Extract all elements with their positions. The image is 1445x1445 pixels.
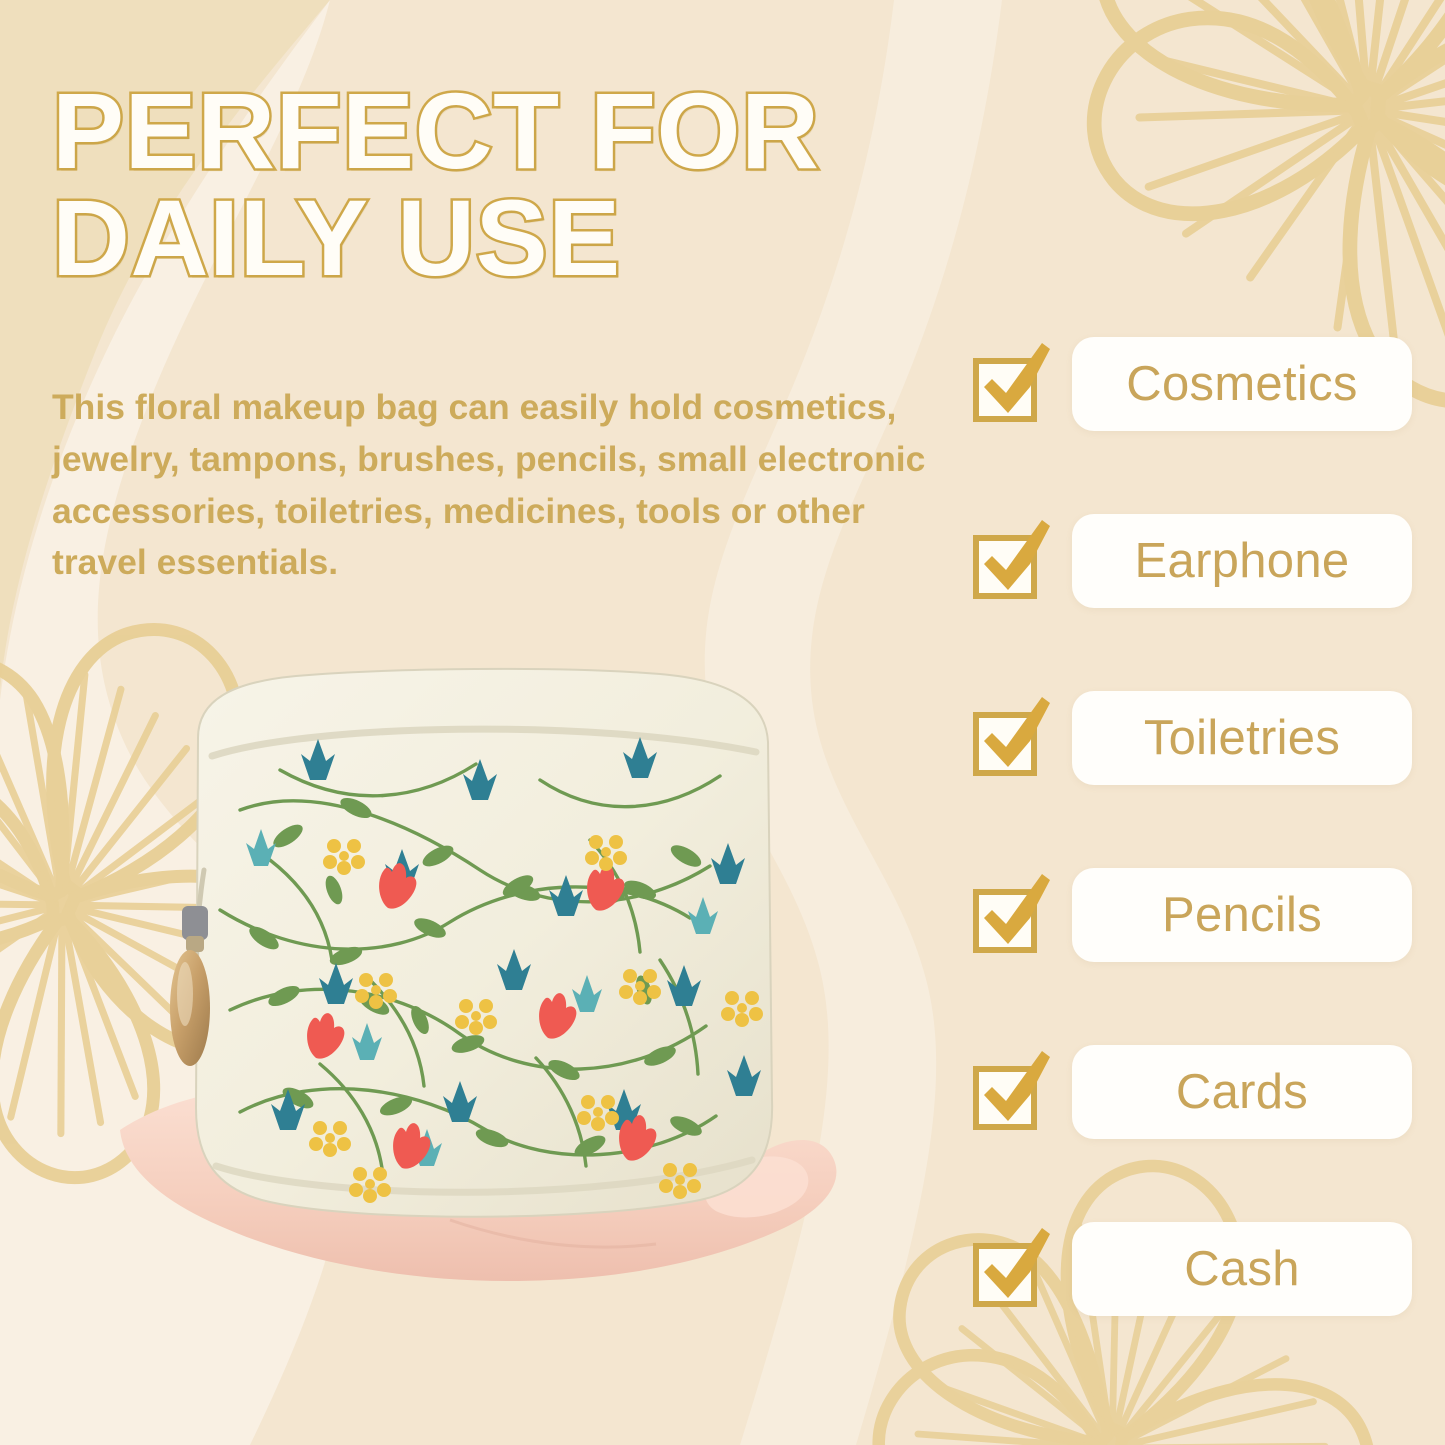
checklist-item-label: Cosmetics: [1126, 360, 1357, 409]
product-feature-panel: PERFECT FOR DAILY USE This floral makeup…: [0, 0, 1445, 1445]
checkbox-checked-icon[interactable]: [972, 874, 1054, 956]
checklist-item-pencils[interactable]: Pencils: [972, 865, 1412, 965]
makeup-bag: [170, 669, 772, 1217]
checklist-item-cosmetics[interactable]: Cosmetics: [972, 334, 1412, 434]
checklist-item-cash[interactable]: Cash: [972, 1219, 1412, 1319]
checkbox-checked-icon[interactable]: [972, 697, 1054, 779]
checklist-item-label: Cards: [1176, 1068, 1308, 1117]
description-text: This floral makeup bag can easily hold c…: [52, 382, 957, 589]
checklist-item-toiletries[interactable]: Toiletries: [972, 688, 1412, 788]
checklist-pill[interactable]: Cash: [1072, 1222, 1412, 1316]
checklist-item-label: Cash: [1184, 1245, 1300, 1294]
feature-checklist: Cosmetics Earphone Toiletr: [972, 334, 1412, 1319]
checklist-pill[interactable]: Cosmetics: [1072, 337, 1412, 431]
checkbox-checked-icon[interactable]: [972, 520, 1054, 602]
checklist-item-label: Pencils: [1162, 891, 1322, 940]
checklist-item-earphone[interactable]: Earphone: [972, 511, 1412, 611]
checkbox-checked-icon[interactable]: [972, 1228, 1054, 1310]
checkbox-checked-icon[interactable]: [972, 1051, 1054, 1133]
checklist-pill[interactable]: Toiletries: [1072, 691, 1412, 785]
page-title: PERFECT FOR DAILY USE: [52, 78, 992, 292]
checklist-pill[interactable]: Earphone: [1072, 514, 1412, 608]
checklist-pill[interactable]: Pencils: [1072, 868, 1412, 962]
checklist-item-label: Toiletries: [1144, 714, 1340, 763]
checklist-item-cards[interactable]: Cards: [972, 1042, 1412, 1142]
checklist-item-label: Earphone: [1135, 537, 1350, 586]
checklist-pill[interactable]: Cards: [1072, 1045, 1412, 1139]
checkbox-checked-icon[interactable]: [972, 343, 1054, 425]
product-image: [120, 660, 910, 1380]
